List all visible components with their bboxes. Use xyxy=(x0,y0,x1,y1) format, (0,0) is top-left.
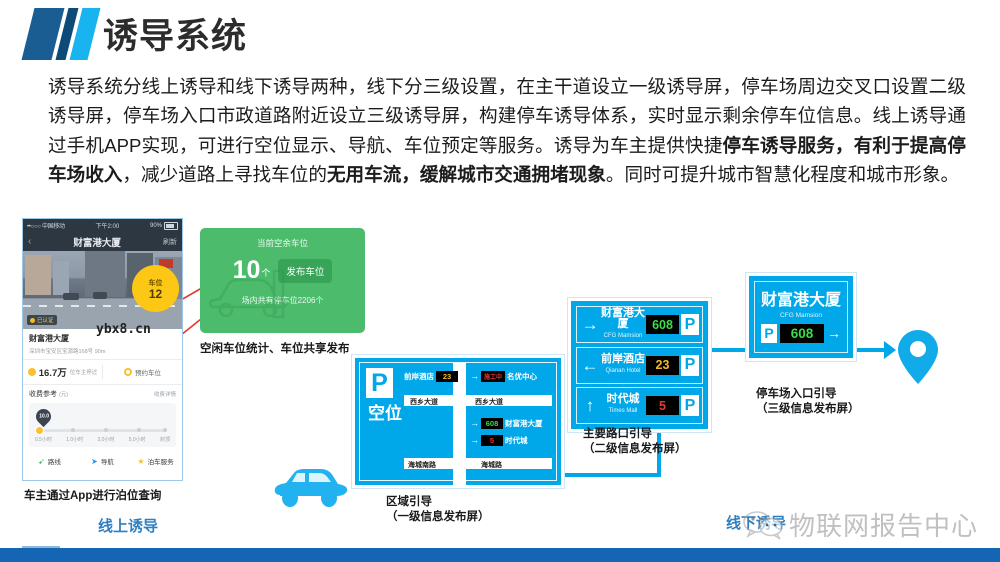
phone-caption: 车主通过App进行泊位查询 xyxy=(24,487,161,503)
phone-bottom-tabs: ➹ 路线 ➤ 导航 ★ 泊车服务 xyxy=(23,451,182,471)
body-paragraph: 诱导系统分线上诱导和线下诱导两种，线下分三级设置，在主干道设立一级诱导屏，停车场… xyxy=(48,72,966,189)
tick-label: 3.0小时 xyxy=(97,436,114,443)
tick-label: 5.0小时 xyxy=(129,436,146,443)
area-item-name: 财富港大厦 xyxy=(505,418,543,429)
sign2-en: Times Mall xyxy=(600,406,646,417)
fee-detail-link[interactable]: 收费详情 xyxy=(154,390,176,398)
tab-valet[interactable]: ★ 泊车服务 xyxy=(129,456,182,466)
parking-p-icon: P xyxy=(681,395,699,416)
page-title: 诱导系统 xyxy=(103,15,247,59)
level2-caption-line2: （二级信息发布屏） xyxy=(583,442,687,457)
level1-area-sign: P 空位 西乡大道 西乡大道 海城南路 海城路 宝源路 宝源路 前岸酒店 23 … xyxy=(352,355,564,488)
parking-p-icon: P xyxy=(761,324,777,343)
reserve-label: 预约车位 xyxy=(135,367,161,377)
status-time: 下午2:00 xyxy=(65,221,150,230)
phone-status-bar: ••○○○ 中国移动 下午2:00 90% xyxy=(23,219,182,232)
photo-verified-tag: 已认证 xyxy=(27,315,57,325)
level3-entrance-sign: 财富港大厦 CFG Mamsion P 608 → xyxy=(746,273,856,361)
parking-p-icon: P xyxy=(681,314,699,335)
area-sign-inner: P 空位 西乡大道 西乡大道 海城南路 海城路 宝源路 宝源路 前岸酒店 23 … xyxy=(359,362,557,481)
status-carrier: ••○○○ 中国移动 xyxy=(27,221,65,230)
area-item-led: 608 xyxy=(481,418,503,429)
tab-navigate-label: 导航 xyxy=(101,456,114,466)
phone-nav-bar: ‹ 财富港大厦 刷新 xyxy=(23,232,182,251)
sign2-led: 5 xyxy=(646,396,679,415)
navigate-icon: ➤ xyxy=(91,457,98,466)
arrow-right-icon: → xyxy=(827,326,841,340)
area-item-led: 施工中 xyxy=(481,371,505,382)
phone-nav-title: 财富港大厦 xyxy=(31,235,163,249)
visitors-value: 16.7万 xyxy=(39,365,67,379)
diagram-figure: ••○○○ 中国移动 下午2:00 90% ‹ 财富港大厦 刷新 xyxy=(0,215,1000,562)
watermark-text: 物联网报告中心 xyxy=(789,506,978,543)
watermark: 物联网报告中心 xyxy=(742,506,978,543)
verified-dot-icon xyxy=(30,318,35,323)
arrow-right-icon: → xyxy=(580,316,600,333)
tick-label: 封顶 xyxy=(160,436,170,443)
sign2-cn: 财富港大厦 xyxy=(600,308,646,330)
sign2-row-qianan: ← 前岸酒店 Qianan Hotel 23 P xyxy=(576,347,703,384)
visitors-label: 位车主停过 xyxy=(70,368,98,376)
sign2-row-shidai: ↑ 时代城 Times Mall 5 P xyxy=(576,387,703,424)
arrow-left-icon: ← xyxy=(580,357,600,374)
stats-row: 16.7万 位车主停过 预约车位 xyxy=(23,360,182,385)
level3-caption: 停车场入口引导 （三级信息发布屏） xyxy=(756,387,860,417)
area-item-led: 5 xyxy=(481,435,503,446)
sign2-row-caifugang: → 财富港大厦 CFG Mamsion 608 P xyxy=(576,306,703,343)
sign2-en: CFG Mamsion xyxy=(600,331,646,342)
arrow-right-icon: → xyxy=(470,372,479,381)
parking-p-icon: P xyxy=(681,355,699,376)
level2-caption: 主要路口引导 （二级信息发布屏） xyxy=(583,427,687,457)
sign2-cn: 时代城 xyxy=(600,394,646,405)
price-pin-value: 10.0 xyxy=(39,414,49,420)
tab-route[interactable]: ➹ 路线 xyxy=(23,456,76,466)
sign2-en: Qianan Hotel xyxy=(600,366,646,377)
sign2-cn: 前岸酒店 xyxy=(600,354,646,365)
road-label-haicheng: 海城路 xyxy=(481,460,502,470)
status-right: 90% xyxy=(150,222,178,230)
sign2-text: 财富港大厦 CFG Mamsion xyxy=(600,308,646,342)
level3-caption-line2: （三级信息发布屏） xyxy=(756,402,860,417)
free-space-card: 当前空余车位 10 个 发布车位 场内共有停车位2206个 xyxy=(200,228,365,333)
sign2-text: 前岸酒店 Qianan Hotel xyxy=(600,354,646,377)
level1-caption-line2: （一级信息发布屏） xyxy=(386,510,490,525)
tab-navigate[interactable]: ➤ 导航 xyxy=(76,456,129,466)
road-label-haicheng-south: 海城南路 xyxy=(408,460,436,470)
online-guidance-label: 线上诱导 xyxy=(98,515,158,536)
green-card-caption: 空闲车位统计、车位共享发布 xyxy=(200,340,350,356)
sign3-led: 608 xyxy=(780,324,824,343)
tab-route-label: 路线 xyxy=(48,456,61,466)
area-item-led: 23 xyxy=(436,371,458,382)
road-label-baoyuan-bottom: 宝源路 xyxy=(456,423,464,446)
tick-label: 1.0小时 xyxy=(66,436,83,443)
level1-caption-line1: 区域引导 xyxy=(386,495,490,510)
car-icon xyxy=(272,465,350,510)
badge-value: 12 xyxy=(149,288,162,300)
free-space-title: 当前空余车位 xyxy=(200,237,365,249)
slider-tick-labels: 0.5小时 1.0小时 3.0小时 5.0小时 封顶 xyxy=(34,436,171,443)
place-address: 深圳市宝安区宝源路168号 90m xyxy=(29,347,176,355)
page-header: 诱导系统 xyxy=(0,0,1000,70)
price-slider[interactable]: 10.0 0.5小时 1.0小时 3.0小时 5.0小时 封顶 xyxy=(29,403,176,447)
phone-mockup: ••○○○ 中国移动 下午2:00 90% ‹ 财富港大厦 刷新 xyxy=(22,218,183,481)
photo-tag-label: 已认证 xyxy=(37,316,54,324)
level2-caption-line1: 主要路口引导 xyxy=(583,427,687,442)
price-pin-icon: 10.0 xyxy=(33,406,54,427)
connector-arrowhead xyxy=(884,341,896,359)
area-item-name: 前岸酒店 xyxy=(404,371,434,382)
refresh-button[interactable]: 刷新 xyxy=(163,237,177,247)
sign3-bottom: P 608 → xyxy=(761,324,841,343)
area-item-mingyou: → 施工中 名优中心 xyxy=(470,371,537,382)
tick-label: 0.5小时 xyxy=(35,436,52,443)
area-sign-p-icon: P xyxy=(366,368,393,398)
level2-junction-sign: → 财富港大厦 CFG Mamsion 608 P ← 前岸酒店 Qianan … xyxy=(568,298,711,432)
fee-title: 收费参考 (元) xyxy=(29,389,68,399)
wechat-icon xyxy=(742,509,784,541)
arrow-up-icon: ↑ xyxy=(460,372,465,381)
parking-space-badge: 车位 12 xyxy=(132,265,179,312)
route-icon: ➹ xyxy=(38,457,45,466)
level1-caption: 区域引导 （一级信息发布屏） xyxy=(386,495,490,525)
tab-valet-label: 泊车服务 xyxy=(148,456,174,466)
fee-header: 收费参考 (元) 收费详情 xyxy=(23,385,182,403)
watermark-url: ybx8.cn xyxy=(96,322,151,337)
reserve-icon xyxy=(124,368,132,376)
road-label-xixiang-left: 西乡大道 xyxy=(410,397,438,407)
status-battery-pct: 90% xyxy=(150,223,162,229)
sign3-inner: 财富港大厦 CFG Mamsion P 608 → xyxy=(754,281,848,353)
area-item-shidaicheng: → 5 时代城 xyxy=(470,435,528,446)
map-pin-icon xyxy=(897,329,939,385)
slider-track[interactable] xyxy=(38,429,167,432)
level3-caption-line1: 停车场入口引导 xyxy=(756,387,860,402)
area-sign-kongwei: 空位 xyxy=(368,403,402,424)
sign3-en: CFG Mamsion xyxy=(780,312,822,319)
area-item-caifugang: → 608 财富港大厦 xyxy=(470,418,543,429)
visitors-stat: 16.7万 位车主停过 xyxy=(23,365,103,379)
star-icon: ★ xyxy=(137,457,144,466)
badge-label: 车位 xyxy=(149,278,163,288)
sign3-cn: 财富港大厦 xyxy=(761,292,841,310)
arrow-up-icon: ↑ xyxy=(580,397,600,414)
reserve-button[interactable]: 预约车位 xyxy=(103,367,182,377)
road-label-xixiang-right: 西乡大道 xyxy=(475,397,503,407)
footer-bar xyxy=(0,548,1000,562)
sign2-led: 23 xyxy=(646,356,679,375)
area-item-name: 时代城 xyxy=(505,435,528,446)
area-item-name: 名优中心 xyxy=(507,371,537,382)
ghost-car-icon xyxy=(208,269,298,327)
battery-icon xyxy=(164,222,178,230)
slider-knob[interactable] xyxy=(35,426,44,435)
sign2-text: 时代城 Times Mall xyxy=(600,394,646,417)
arrow-right-icon: → xyxy=(470,419,479,428)
sign2-led: 608 xyxy=(646,315,679,334)
coin-icon xyxy=(28,368,36,376)
arrow-right-icon: → xyxy=(470,436,479,445)
area-item-qianan: 前岸酒店 23 ↑ xyxy=(404,371,465,382)
